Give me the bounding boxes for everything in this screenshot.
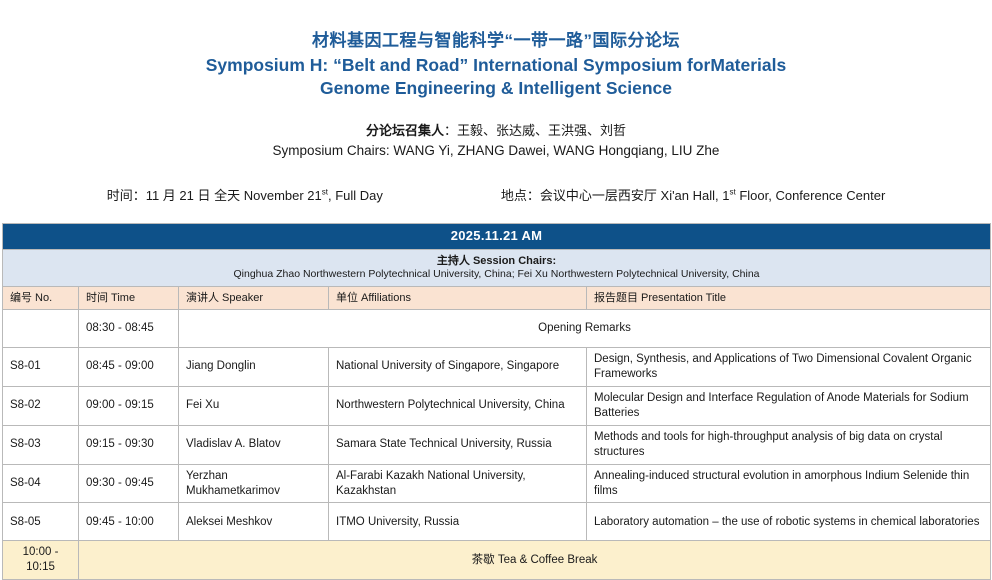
row-time: 09:30 - 09:45 [79,464,179,503]
title-chinese: 材料基因工程与智能科学“一带一路”国际分论坛 [0,30,992,51]
row-time: 09:15 - 09:30 [79,425,179,464]
row-speaker: Fei Xu [179,386,329,425]
break-time: 10:00 - 10:15 [3,541,79,580]
event-time: 时间：11 月 21 日 全天 November 21st, Full Day [107,185,383,204]
symposium-chairs: 分论坛召集人：王毅、张达威、王洪强、刘哲 Symposium Chairs: W… [0,122,992,160]
opening-time: 08:30 - 08:45 [79,309,179,347]
event-time-tail: , Full Day [328,188,383,203]
schedule-table: 2025.11.21 AM 主持人 Session Chairs: Qinghu… [2,223,991,580]
row-speaker: Vladislav A. Blatov [179,425,329,464]
chairs-chinese-label: 分论坛召集人 [366,123,444,138]
event-meta: 时间：11 月 21 日 全天 November 21st, Full Day … [0,185,992,204]
row-title: Laboratory automation – the use of robot… [587,503,991,541]
row-affiliation: ITMO University, Russia [329,503,587,541]
session-chairs-names: Qinghua Zhao Northwestern Polytechnical … [10,268,983,282]
row-no: S8-01 [3,347,79,386]
session-chairs-cell: 主持人 Session Chairs: Qinghua Zhao Northwe… [3,249,991,286]
row-time: 08:45 - 09:00 [79,347,179,386]
session-chairs-row: 主持人 Session Chairs: Qinghua Zhao Northwe… [3,249,991,286]
table-row-break: 10:00 - 10:15 茶歇 Tea & Coffee Break [3,541,991,580]
table-row: S8-02 09:00 - 09:15 Fei Xu Northwestern … [3,386,991,425]
break-label: 茶歇 Tea & Coffee Break [79,541,991,580]
title-english: Symposium H: “Belt and Road” Internation… [0,54,992,100]
row-affiliation: Samara State Technical University, Russi… [329,425,587,464]
column-header-affiliation: 单位 Affiliations [329,286,587,309]
event-place: 地点：会议中心一层西安厅 Xi'an Hall, 1st Floor, Conf… [501,185,885,204]
column-header-row: 编号 No. 时间 Time 演讲人 Speaker 单位 Affiliatio… [3,286,991,309]
row-no: S8-03 [3,425,79,464]
row-affiliation: Northwestern Polytechnical University, C… [329,386,587,425]
row-no: S8-04 [3,464,79,503]
row-affiliation: Al-Farabi Kazakh National University, Ka… [329,464,587,503]
row-title: Design, Synthesis, and Applications of T… [587,347,991,386]
column-header-no: 编号 No. [3,286,79,309]
row-affiliation: National University of Singapore, Singap… [329,347,587,386]
page-header: 材料基因工程与智能科学“一带一路”国际分论坛 Symposium H: “Bel… [0,0,992,204]
row-speaker: Aleksei Meshkov [179,503,329,541]
chairs-chinese-names: ：王毅、张达威、王洪强、刘哲 [444,123,626,138]
chairs-english: Symposium Chairs: WANG Yi, ZHANG Dawei, … [0,141,992,161]
opening-remarks-label: Opening Remarks [179,309,991,347]
row-speaker: Jiang Donglin [179,347,329,386]
row-no: S8-02 [3,386,79,425]
event-place-text: 地点：会议中心一层西安厅 Xi'an Hall, 1 [501,188,730,203]
row-time: 09:00 - 09:15 [79,386,179,425]
table-row: S8-04 09:30 - 09:45 Yerzhan Mukhametkari… [3,464,991,503]
row-time: 09:45 - 10:00 [79,503,179,541]
row-speaker: Yerzhan Mukhametkarimov [179,464,329,503]
title-english-line2: Genome Engineering & Intelligent Science [320,78,672,98]
table-row-opening: 08:30 - 08:45 Opening Remarks [3,309,991,347]
schedule-container: 2025.11.21 AM 主持人 Session Chairs: Qinghu… [0,223,992,580]
session-chairs-title: 主持人 Session Chairs: [10,254,983,268]
column-header-time: 时间 Time [79,286,179,309]
event-place-tail: Floor, Conference Center [736,188,886,203]
table-row: S8-05 09:45 - 10:00 Aleksei Meshkov ITMO… [3,503,991,541]
table-row: S8-01 08:45 - 09:00 Jiang Donglin Nation… [3,347,991,386]
chairs-chinese: 分论坛召集人：王毅、张达威、王洪强、刘哲 [0,122,992,141]
row-title: Molecular Design and Interface Regulatio… [587,386,991,425]
day-band-label: 2025.11.21 AM [3,223,991,249]
day-band-row: 2025.11.21 AM [3,223,991,249]
event-time-text: 时间：11 月 21 日 全天 November 21 [107,188,322,203]
row-title: Methods and tools for high-throughput an… [587,425,991,464]
row-title: Annealing-induced structural evolution i… [587,464,991,503]
title-english-line1: Symposium H: “Belt and Road” Internation… [206,55,787,75]
table-row: S8-03 09:15 - 09:30 Vladislav A. Blatov … [3,425,991,464]
column-header-speaker: 演讲人 Speaker [179,286,329,309]
column-header-title: 报告题目 Presentation Title [587,286,991,309]
opening-no [3,309,79,347]
row-no: S8-05 [3,503,79,541]
